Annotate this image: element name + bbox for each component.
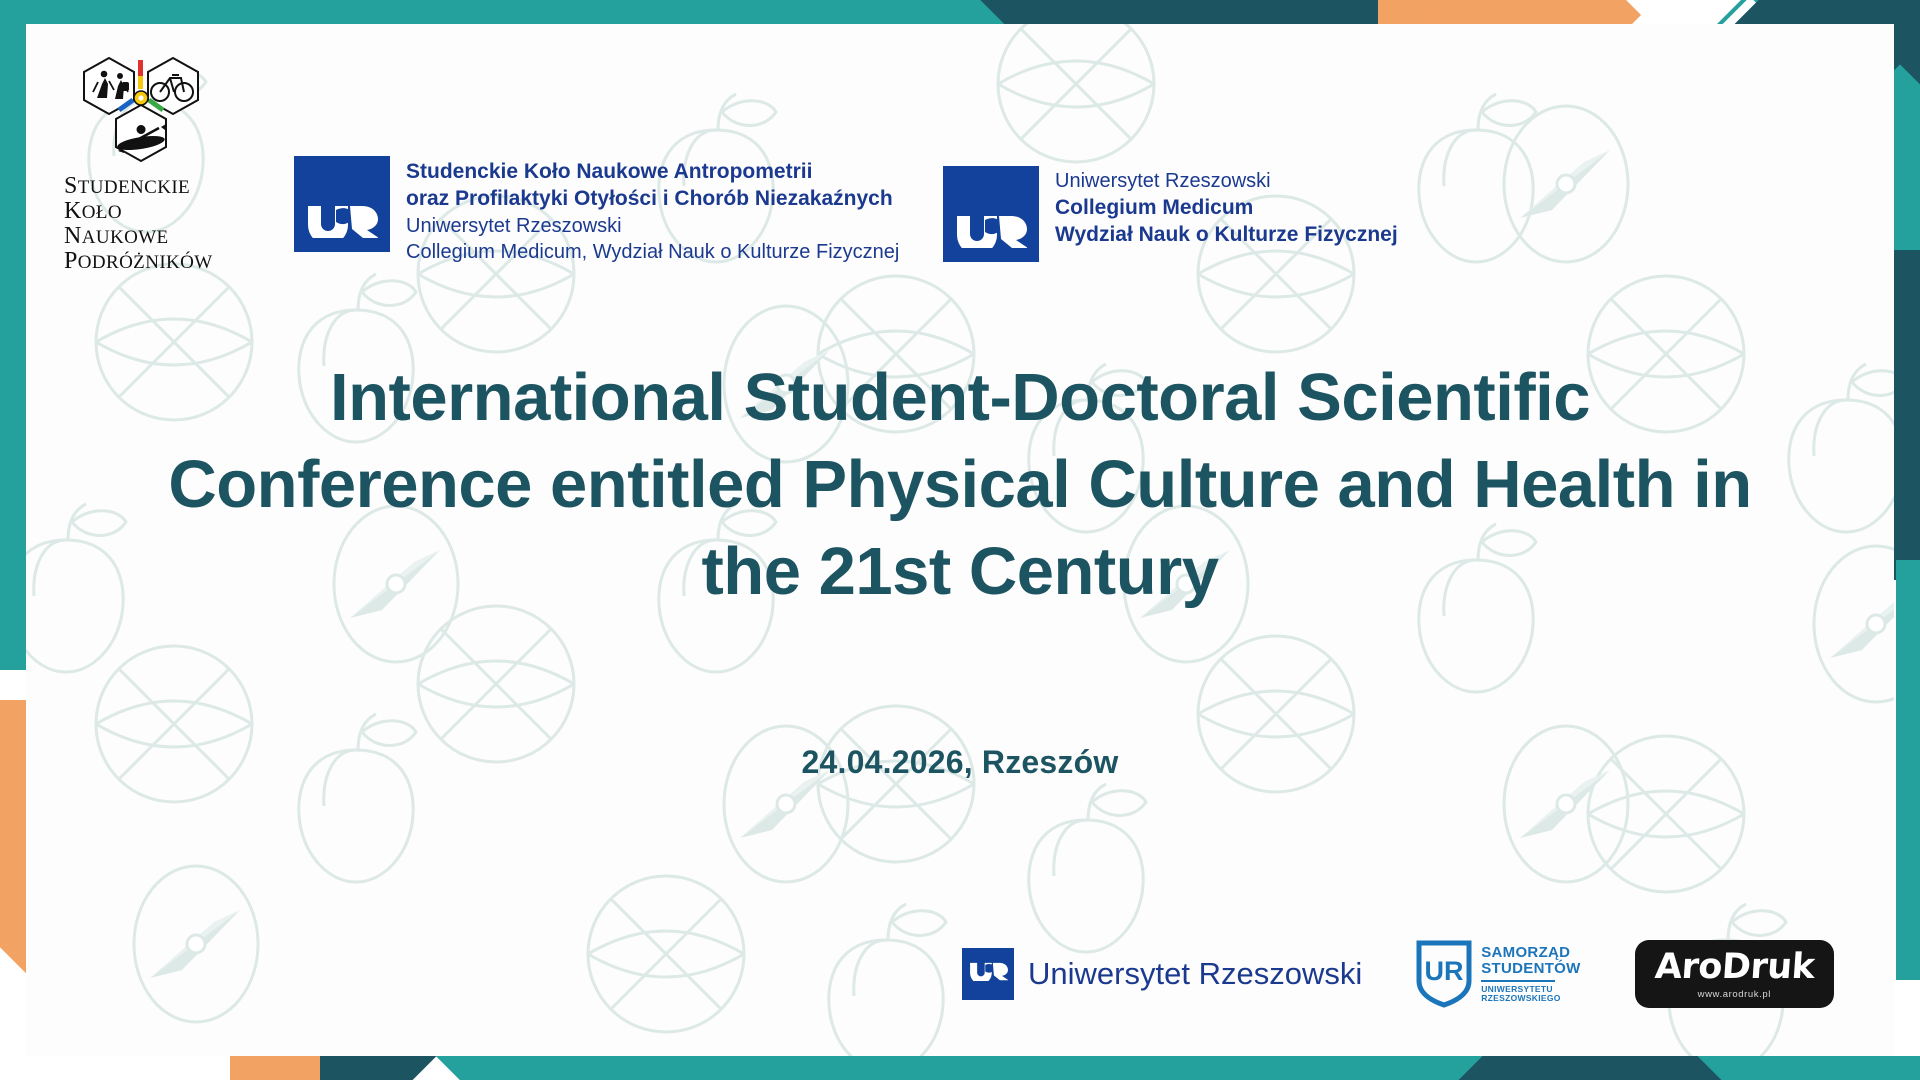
conference-poster: STUDENCKIE KOŁO NAUKOWE PODRÓŻNIKÓW Stud…: [0, 0, 1920, 1080]
collegium-medicum-logo-block: Uniwersytet Rzeszowski Collegium Medicum…: [943, 166, 1398, 262]
uniwersytet-rzeszowski-label: Uniwersytet Rzeszowski: [1028, 956, 1362, 992]
page-title: International Student-Doctoral Scientifi…: [146, 354, 1774, 615]
date-location: 24.04.2026, Rzeszów: [26, 744, 1894, 781]
deco-top-left-teal-strip: [0, 0, 26, 300]
ur-block-1-line-3: Uniwersytet Rzeszowski: [406, 213, 899, 239]
arodruk-logo: AroDruk www.arodruk.pl: [1635, 940, 1834, 1008]
ur-block-2-line-2: Collegium Medicum: [1055, 194, 1398, 221]
deco-right-teal-strip: [1896, 560, 1920, 980]
skn-line-3-rest: AUKOWE: [82, 227, 169, 248]
poster-header: STUDENCKIE KOŁO NAUKOWE PODRÓŻNIKÓW Stud…: [26, 24, 1894, 254]
ur-block-2-text: Uniwersytet Rzeszowski Collegium Medicum…: [1055, 166, 1398, 249]
deco-bottom-teal-bar: [560, 1056, 1920, 1080]
ur-monogram-icon: [943, 166, 1039, 262]
ur-block-1-line-2: oraz Profilaktyki Otyłości i Chorób Niez…: [406, 185, 899, 212]
skn-line-1-rest: TUDENCKIE: [78, 177, 190, 198]
arodruk-name: AroDruk: [1653, 950, 1815, 985]
samorzad-line-4: RZESZOWSKIEGO: [1481, 994, 1580, 1003]
ur-block-2-line-3: Wydział Nauk o Kulturze Fizycznej: [1055, 221, 1398, 248]
skn-logo-text: STUDENCKIE KOŁO NAUKOWE PODRÓŻNIKÓW: [64, 174, 226, 274]
ur-block-1-line-4: Collegium Medicum, Wydział Nauk o Kultur…: [406, 239, 899, 265]
ur-block-1-line-1: Studenckie Koło Naukowe Antropometrii: [406, 158, 899, 185]
samorzad-line-2: STUDENTÓW: [1481, 961, 1580, 977]
arodruk-url: www.arodruk.pl: [1655, 989, 1814, 1000]
skn-line-2-rest: OŁO: [82, 202, 122, 223]
ur-block-2-line-1: Uniwersytet Rzeszowski: [1055, 168, 1398, 194]
poster-card: STUDENCKIE KOŁO NAUKOWE PODRÓŻNIKÓW Stud…: [26, 24, 1894, 1056]
samorzad-studentow-logo: UR SAMORZĄD STUDENTÓW UNIWERSYTETU RZESZ…: [1416, 940, 1580, 1008]
skn-line-4-rest: ODRÓŻNIKÓW: [78, 252, 213, 273]
deco-left-teal-strip: [0, 250, 26, 670]
uniwersytet-rzeszowski-logo: Uniwersytet Rzeszowski: [962, 948, 1362, 1000]
poster-footer: Uniwersytet Rzeszowski UR SAMORZĄD STUDE…: [26, 918, 1894, 1008]
deco-top-teal-bar: [0, 0, 1250, 24]
ur-block-1-text: Studenckie Koło Naukowe Antropometrii or…: [406, 156, 899, 265]
samorzad-line-1: SAMORZĄD: [1481, 945, 1580, 961]
samorzad-divider: [1481, 980, 1555, 982]
ur-monogram-icon: [294, 156, 390, 252]
svg-text:UR: UR: [1425, 956, 1464, 986]
ur-monogram-icon: [962, 948, 1014, 1000]
samorzad-text: SAMORZĄD STUDENTÓW UNIWERSYTETU RZESZOWS…: [1481, 945, 1580, 1002]
ur-shield-icon: UR: [1416, 940, 1472, 1008]
footer-logo-row: Uniwersytet Rzeszowski UR SAMORZĄD STUDE…: [962, 940, 1834, 1008]
skn-antropometrii-logo-block: Studenckie Koło Naukowe Antropometrii or…: [294, 156, 899, 265]
skn-podroznikow-logo: STUDENCKIE KOŁO NAUKOWE PODRÓŻNIKÓW: [56, 50, 226, 274]
hexagon-tourism-logo-icon: [71, 50, 211, 170]
